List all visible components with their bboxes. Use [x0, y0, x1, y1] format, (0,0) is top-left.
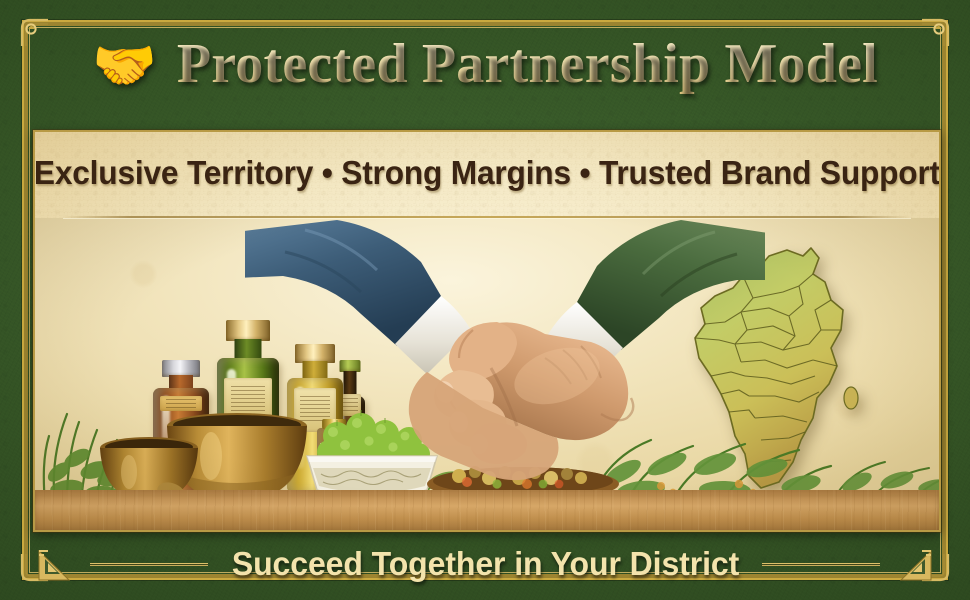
footer-rule-left — [90, 562, 208, 567]
handshake-icon: 🤝 — [92, 40, 157, 92]
wooden-table-surface — [35, 490, 939, 530]
footer-tagline: Succeed Together in Your District — [231, 545, 738, 583]
subtitle-text: Exclusive Territory • Strong Margins • T… — [34, 154, 940, 192]
poster-canvas: 🤝 Protected Partnership Model Exclusive … — [0, 0, 970, 600]
footer-ornament-left-icon — [36, 545, 74, 583]
footer-rule-right — [762, 562, 880, 567]
subtitle-divider — [63, 216, 911, 218]
subtitle-strip: Exclusive Territory • Strong Margins • T… — [35, 132, 939, 214]
page-title: Protected Partnership Model — [177, 32, 878, 96]
footer-ornament-right-icon — [896, 545, 934, 583]
handshake-illustration — [245, 218, 765, 484]
bottle-label — [160, 396, 203, 411]
artwork-scene — [35, 218, 939, 530]
content-panel: Exclusive Territory • Strong Margins • T… — [33, 130, 941, 532]
poster-header: 🤝 Protected Partnership Model — [0, 0, 970, 128]
poster-footer: Succeed Together in Your District — [0, 528, 970, 600]
